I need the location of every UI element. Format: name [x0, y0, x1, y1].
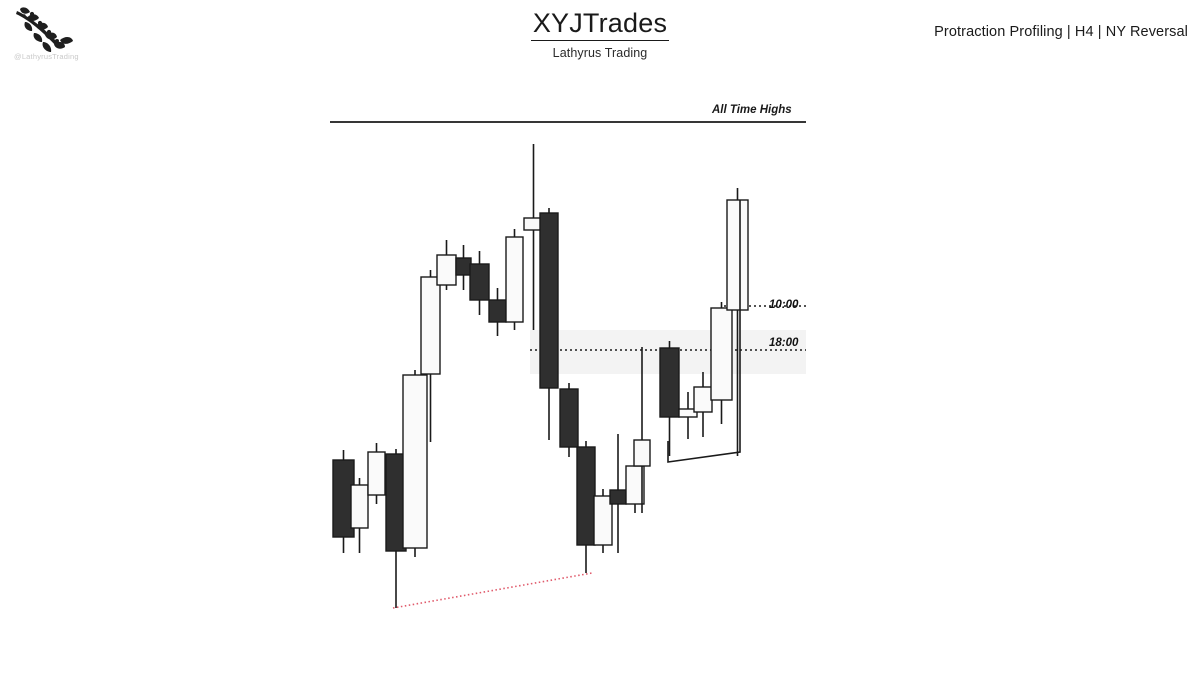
- candle: [711, 302, 732, 424]
- candle: [540, 208, 558, 440]
- candle: [368, 443, 385, 504]
- candle: [456, 245, 471, 290]
- candle: [694, 372, 712, 437]
- candlestick-chart: All Time Highs 10:00 18:00: [0, 0, 1200, 675]
- level-label-1800: 18:00: [769, 337, 798, 349]
- level-label-1000: 10:00: [769, 299, 798, 311]
- candle: [489, 288, 506, 336]
- candle-series: [333, 144, 748, 608]
- red-trendline: [393, 573, 592, 608]
- candle: [403, 370, 427, 557]
- candle: [506, 229, 523, 330]
- candle: [577, 441, 595, 573]
- candle: [594, 489, 612, 553]
- candle: [437, 240, 456, 290]
- candle: [560, 383, 578, 457]
- candle: [470, 251, 489, 315]
- candle: [660, 341, 679, 456]
- all-time-highs-label: All Time Highs: [712, 104, 792, 116]
- candle: [351, 478, 368, 553]
